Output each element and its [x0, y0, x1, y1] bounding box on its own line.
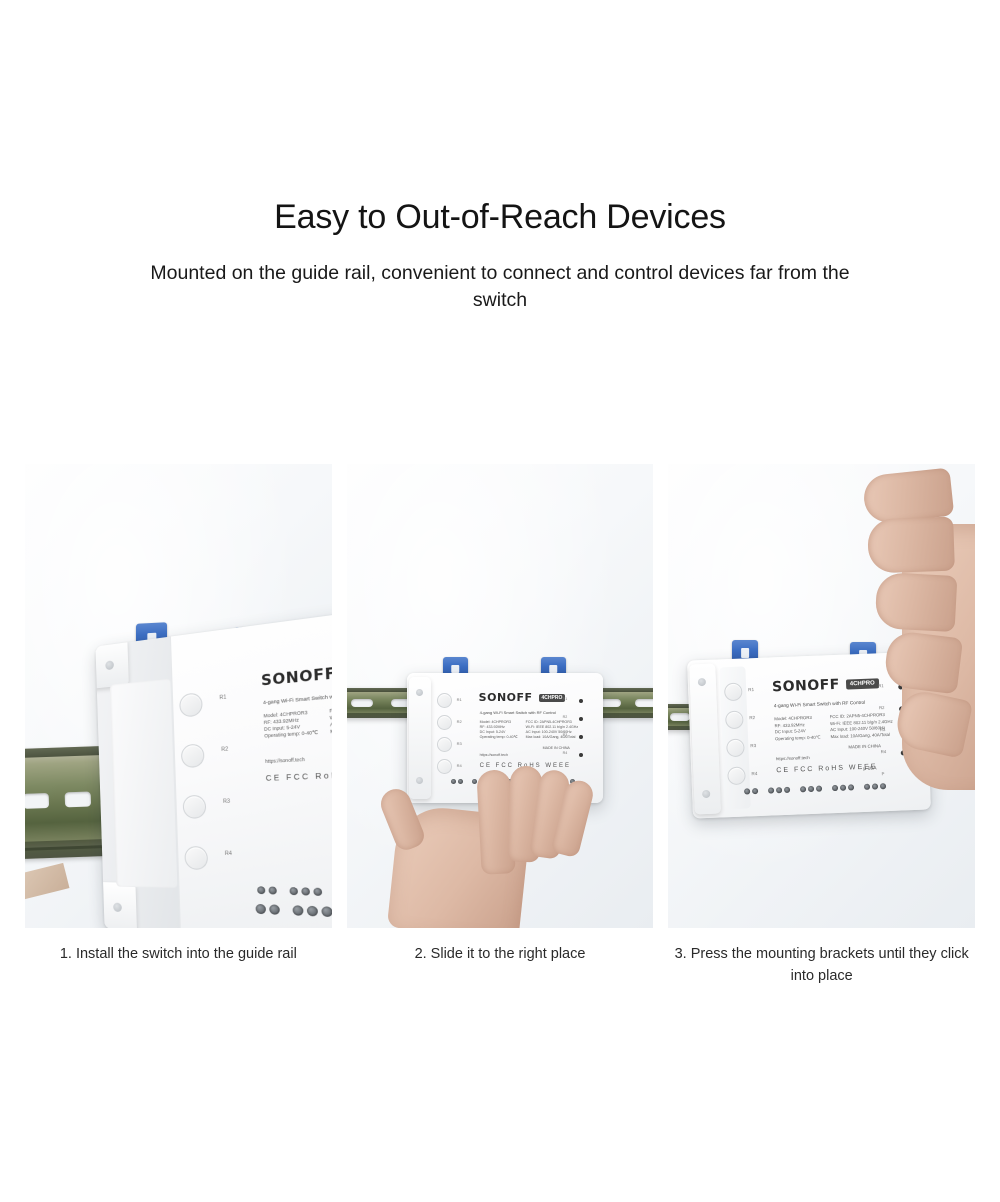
page-subtitle: Mounted on the guide rail, convenient to…: [150, 260, 850, 315]
device-tagline: 4-gang Wi-Fi Smart Switch with RF Contro…: [480, 710, 556, 715]
status-led-r3: [579, 735, 583, 739]
relay-button-label-r1: R1: [748, 687, 754, 692]
brand-name: SONOFF: [261, 666, 332, 690]
led-label-r2: R2: [563, 715, 568, 719]
spec-item: Model: 4CHPROR3: [480, 720, 518, 724]
relay-button-r3[interactable]: [183, 795, 207, 819]
spec-item: Operating temp: 0-40℃: [480, 735, 518, 739]
spec-item: Max load: 10A/Gang, 40A/Total: [526, 735, 578, 739]
device-branding: SONOFF 4CHPRO: [479, 691, 566, 704]
relay-button-r1[interactable]: [179, 692, 203, 717]
header-section: Easy to Out-of-Reach Devices Mounted on …: [0, 0, 1000, 315]
hand-pressing-bracket: [846, 464, 975, 818]
step-caption-2: 2. Slide it to the right place: [347, 944, 654, 988]
terminal-group: [257, 886, 277, 894]
status-led-r2: [579, 717, 583, 721]
relay-button-label-r2: R2: [457, 719, 462, 724]
relay-button-r3[interactable]: [437, 737, 452, 752]
rail-channel: [110, 679, 178, 889]
brand-name: SONOFF: [772, 677, 840, 696]
relay-button-r2[interactable]: [437, 715, 452, 730]
led-label-r4: R4: [563, 751, 568, 755]
terminal-block-row: [257, 886, 332, 899]
relay-button-label-r2: R2: [750, 715, 756, 720]
relay-button-label-r1: R1: [457, 697, 462, 702]
relay-button-label-r3: R3: [457, 741, 462, 746]
relay-button-r1[interactable]: [437, 693, 452, 708]
device-website: https://sonoff.tech: [265, 757, 305, 765]
step-caption-3: 3. Press the mounting brackets until the…: [668, 944, 975, 988]
spec-item: Operating temp: 0-40℃: [775, 734, 821, 742]
led-label-r1: R1: [563, 697, 568, 701]
page-title: Easy to Out-of-Reach Devices: [0, 196, 1000, 239]
relay-button-group: [179, 691, 222, 896]
step-image-2: R1 R2 R3 R4 SONOFF 4CHPRO 4-gang Wi-Fi S…: [347, 464, 654, 928]
step-captions: 1. Install the switch into the guide rai…: [25, 944, 975, 988]
step-image-1: R1 R2 R3 R4 SONOFF 4CHPRO 4-gang Wi-Fi S…: [25, 464, 332, 928]
spec-item: RF: 433.92MHz: [480, 725, 518, 729]
certification-marks: CE FCC RoHS WEEE: [266, 770, 332, 783]
spec-item: Wi-Fi: IEEE 802.11 b/g/n 2.4GHz: [526, 725, 578, 729]
relay-button-label-r3: R3: [751, 743, 757, 748]
model-badge: 4CHPRO: [539, 694, 566, 702]
step-image-3: R1 R2 R3 R4 SONOFF 4CHPRO 4-gang Wi-Fi S…: [668, 464, 975, 928]
relay-button-label-r4: R4: [225, 851, 232, 858]
step-caption-1: 1. Install the switch into the guide rai…: [25, 944, 332, 988]
relay-button-r4[interactable]: [184, 846, 208, 870]
spec-item: AC Input: 100-240V 50/60Hz: [526, 730, 578, 734]
device-front-face: R1 R2 R3 R4 SONOFF 4CHPRO 4-gang Wi-Fi S…: [95, 610, 331, 928]
device-website: https://sonoff.tech: [776, 755, 810, 761]
device-website: https://sonoff.tech: [480, 753, 508, 757]
terminal-screw-row: [255, 904, 331, 922]
led-label-r3: R3: [563, 733, 568, 737]
sonoff-smart-switch: R1 R2 R3 R4 SONOFF 4CHPRO 4-gang Wi-Fi S…: [95, 610, 331, 928]
terminal-group: [289, 887, 322, 896]
brand-name: SONOFF: [479, 691, 533, 704]
spec-item: FCC ID: 2APN5-4CHPROR3: [329, 702, 331, 714]
relay-button-label-r4: R4: [752, 771, 758, 776]
relay-button-label-r1: R1: [219, 694, 226, 701]
device-tagline: 4-gang Wi-Fi Smart Switch with RF Contro…: [263, 691, 332, 706]
device-spec-list: Model: 4CHPROR3 FCC ID: 2APN5-4CHPROR3 R…: [263, 702, 331, 740]
relay-button-label-r2: R2: [221, 746, 228, 753]
relay-button-label-r3: R3: [223, 798, 230, 805]
mounting-bracket-left: [690, 664, 722, 815]
spec-item: FCC ID: 2APN5-4CHPROR3: [526, 720, 578, 724]
status-led-r4: [579, 753, 583, 757]
hand-sliding-device: [383, 764, 613, 928]
relay-button-r2[interactable]: [181, 743, 205, 768]
device-branding: SONOFF 4CHPRO: [261, 660, 332, 689]
status-led-r1: [579, 699, 583, 703]
installation-steps-gallery: R1 R2 R3 R4 SONOFF 4CHPRO 4-gang Wi-Fi S…: [25, 464, 975, 928]
spec-item: DC Input: 5-24V: [480, 730, 518, 734]
device-origin: MADE IN CHINA: [543, 746, 570, 750]
